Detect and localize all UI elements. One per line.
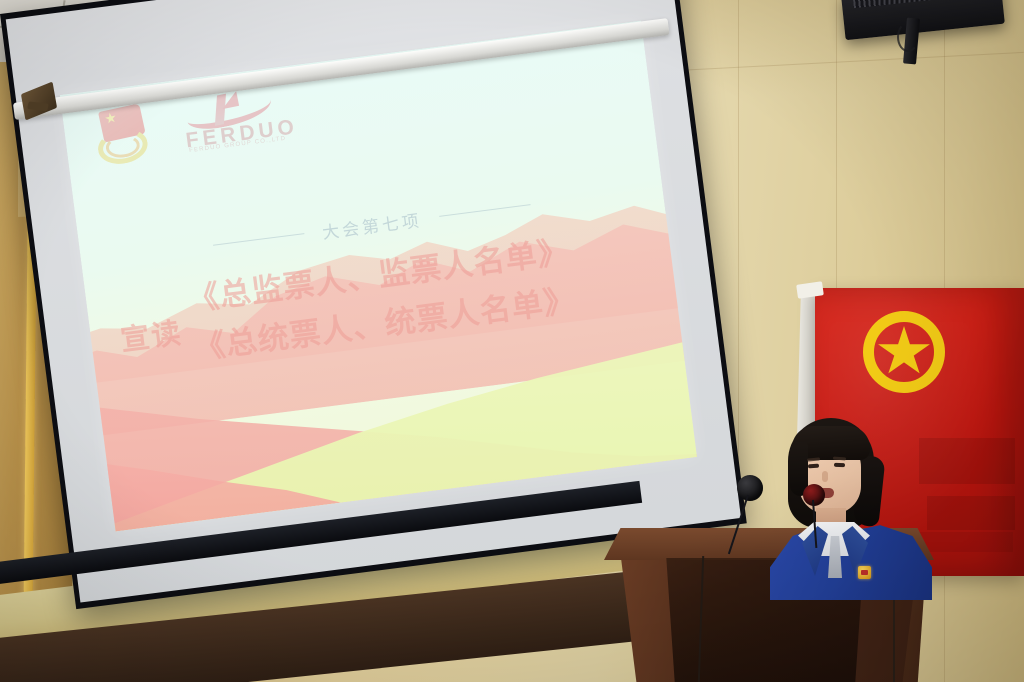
presenter-at-podium [772,418,932,578]
eyebrow-rule-left [213,233,304,246]
communist-youth-league-emblem-icon [91,104,152,168]
eye-left [808,464,819,469]
flag-fold [927,496,1015,530]
slide-eyebrow-text: 大会第七项 [321,206,423,244]
logo-triangle-shape [220,91,240,109]
flag-fold [919,438,1015,484]
eyebrow-rule-right [439,204,530,217]
microphone-left [737,475,763,501]
microphone-head-icon [737,475,763,501]
nose [822,471,828,482]
headline-verb: 宣读 [118,309,185,359]
speaker-cable [897,22,919,52]
lapel-pin-badge [858,566,871,579]
corporate-logo-icon: FERDUO FERDUO GROUP CO.,LTD [179,86,295,158]
eye-right [834,463,845,468]
microphone-right [803,484,825,506]
conference-hall-photo: FERDUO FERDUO GROUP CO.,LTD 大会第七项 [0,0,1024,682]
